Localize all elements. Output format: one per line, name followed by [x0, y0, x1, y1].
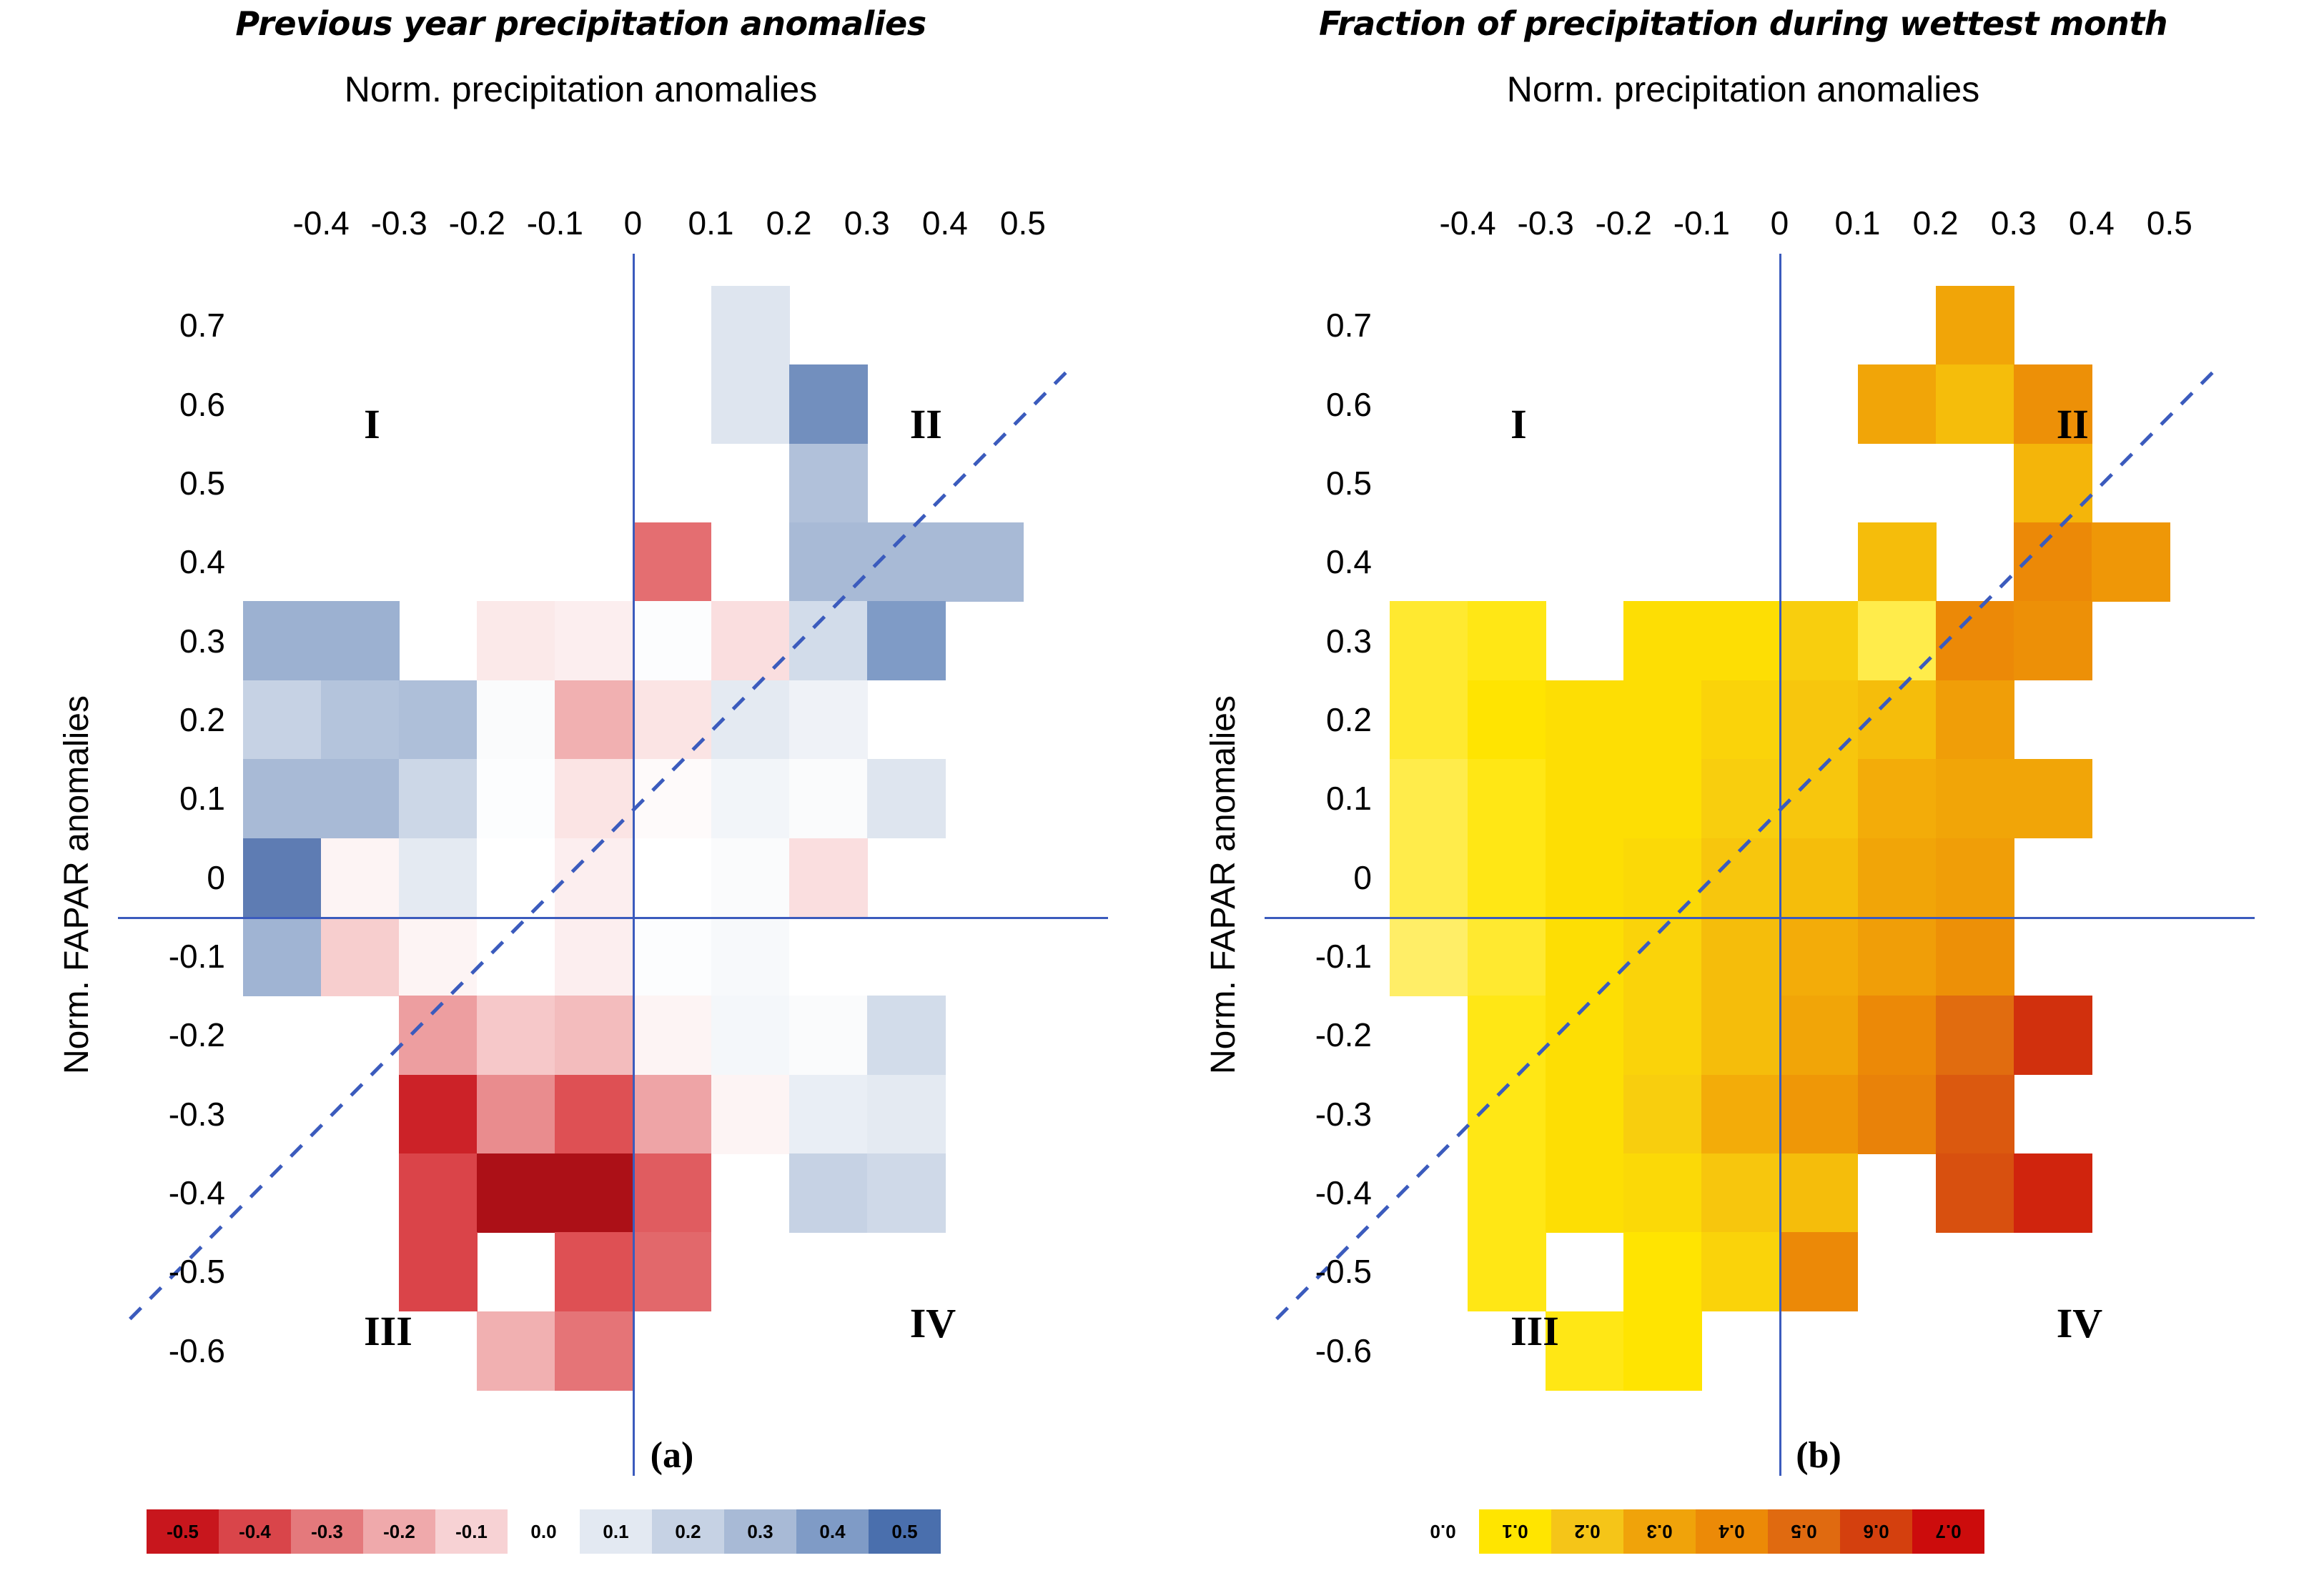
colorbar-tick: 0.5 [869, 1509, 941, 1554]
heatmap-cell [1390, 838, 1468, 918]
heatmap-cell [867, 601, 946, 680]
heatmap-cell [711, 917, 790, 996]
heatmap-cell [2014, 444, 2092, 523]
heatmap-cell [321, 680, 400, 760]
heatmap-cell [711, 680, 790, 760]
panel-letter: (a) [243, 1434, 1101, 1477]
y-tick-label: 0.2 [104, 700, 225, 739]
heatmap-cell [399, 838, 478, 918]
heatmap-cell [399, 1153, 478, 1233]
y-tick-label: 0.1 [1250, 779, 1372, 818]
colorbar-tick: 0.7 [1912, 1509, 1984, 1554]
y-zero-axis-line [1265, 917, 2255, 919]
heatmap-cell [1779, 1075, 1858, 1154]
colorbar-tick: -0.2 [363, 1509, 435, 1554]
y-tick-label: -0.4 [1250, 1173, 1372, 1212]
heatmap-cell [711, 364, 790, 444]
y-tick-label: 0.5 [104, 464, 225, 502]
x-tick-label: -0.3 [1518, 204, 1574, 242]
x-zero-axis-line [633, 254, 635, 1476]
heatmap-cell [555, 1232, 633, 1311]
quadrant-label-ii: II [910, 400, 942, 448]
y-tick-label: 0.4 [1250, 542, 1372, 581]
heatmap-cell [555, 917, 633, 996]
heatmap-cell [1623, 1232, 1702, 1311]
heatmap-cell [711, 996, 790, 1075]
quadrant-label-iii: III [364, 1307, 412, 1355]
heatmap-cell [1858, 601, 1937, 680]
heatmap-cell [321, 838, 400, 918]
panel-a-title: Previous year precipitation anomalies [0, 4, 1162, 43]
colorbar-tick: 0.6 [1840, 1509, 1912, 1554]
heatmap-cell [1623, 838, 1702, 918]
heatmap-cell [1858, 680, 1937, 760]
heatmap-cell [633, 838, 711, 918]
heatmap-cell [1468, 680, 1546, 760]
heatmap-cell [1858, 759, 1937, 838]
heatmap-cell [2014, 1153, 2092, 1233]
y-tick-label: -0.4 [104, 1173, 225, 1212]
y-tick-label: -0.2 [1250, 1016, 1372, 1054]
colorbar-tick: 0.4 [796, 1509, 869, 1554]
x-tick-label: -0.2 [1596, 204, 1652, 242]
heatmap-cell [789, 996, 868, 1075]
heatmap-cell [477, 996, 555, 1075]
heatmap-cell [711, 838, 790, 918]
quadrant-label-i: I [1510, 400, 1527, 448]
x-tick-label: -0.4 [1439, 204, 1495, 242]
y-tick-label: -0.1 [1250, 937, 1372, 976]
y-zero-axis-line [118, 917, 1108, 919]
heatmap-cell [1701, 680, 1780, 760]
panel-b: Fraction of precipitation during wettest… [1162, 0, 2324, 1578]
heatmap-cell [321, 759, 400, 838]
colorbar-tick: 0.0 [508, 1509, 580, 1554]
heatmap-cell [477, 1153, 555, 1233]
heatmap-cell [555, 996, 633, 1075]
heatmap-cell [555, 1075, 633, 1154]
y-axis-label: Norm. FAPAR anomalies [57, 695, 97, 1074]
heatmap-cell [2014, 601, 2092, 680]
heatmap-cell [1623, 680, 1702, 760]
quadrant-label-iv: IV [2057, 1299, 2102, 1347]
heatmap-cell [1546, 838, 1624, 918]
heatmap-cell [243, 759, 322, 838]
y-tick-label: 0.6 [1250, 385, 1372, 424]
colorbar-tick: -0.5 [147, 1509, 219, 1554]
heatmap-cell [477, 1075, 555, 1154]
heatmap-cell [1701, 1232, 1780, 1311]
heatmap-cell [1546, 1153, 1624, 1233]
x-tick-label: 0 [624, 204, 643, 242]
colorbar-panel-a: -0.5-0.4-0.3-0.2-0.10.00.10.20.30.40.5 [147, 1509, 941, 1554]
heatmap-cell [2014, 522, 2092, 602]
heatmap-cell [1936, 838, 2014, 918]
heatmap-cell [1779, 759, 1858, 838]
heatmap-cell [867, 522, 946, 602]
heatmap-cell [1468, 996, 1546, 1075]
panel-b-heatmap: -0.4-0.3-0.2-0.100.10.20.30.40.50.70.60.… [1390, 286, 2248, 1390]
x-tick-label: 0.2 [766, 204, 812, 242]
heatmap-cell [1468, 838, 1546, 918]
y-tick-label: 0.4 [104, 542, 225, 581]
y-tick-label: 0.7 [1250, 306, 1372, 344]
heatmap-cell [399, 1232, 478, 1311]
heatmap-cell [633, 522, 711, 602]
x-tick-label: 0.4 [2069, 204, 2115, 242]
heatmap-cell [321, 601, 400, 680]
heatmap-cell [1546, 680, 1624, 760]
heatmap-cell [1779, 1153, 1858, 1233]
y-tick-label: 0.3 [104, 622, 225, 660]
heatmap-cell [711, 759, 790, 838]
heatmap-grid [243, 286, 1101, 1390]
heatmap-cell [399, 680, 478, 760]
heatmap-cell [1936, 364, 2014, 444]
heatmap-cell [1623, 601, 1702, 680]
y-tick-label: 0.1 [104, 779, 225, 818]
y-tick-label: -0.5 [104, 1252, 225, 1291]
colorbar-tick: 0.3 [724, 1509, 796, 1554]
heatmap-cell [1858, 522, 1937, 602]
heatmap-cell [1858, 996, 1937, 1075]
heatmap-cell [555, 838, 633, 918]
colorbar-panel-b: 0.00.10.20.30.40.50.60.7 [1407, 1509, 1984, 1554]
colorbar-tick: 0.0 [1407, 1509, 1479, 1554]
heatmap-cell [243, 680, 322, 760]
y-tick-label: 0.2 [1250, 700, 1372, 739]
heatmap-cell [1936, 1075, 2014, 1154]
colorbar-tick: -0.3 [291, 1509, 363, 1554]
heatmap-cell [1858, 1075, 1937, 1154]
y-tick-label: -0.3 [104, 1095, 225, 1133]
heatmap-cell [867, 1075, 946, 1154]
heatmap-cell [477, 601, 555, 680]
heatmap-cell [399, 1075, 478, 1154]
heatmap-cell [633, 1075, 711, 1154]
heatmap-cell [633, 1232, 711, 1311]
heatmap-cell [789, 522, 868, 602]
y-tick-label: -0.3 [1250, 1095, 1372, 1133]
heatmap-cell [789, 1153, 868, 1233]
y-tick-label: 0.7 [104, 306, 225, 344]
colorbar-tick: 0.1 [580, 1509, 652, 1554]
heatmap-cell [789, 364, 868, 444]
y-tick-label: 0.6 [104, 385, 225, 424]
heatmap-cell [399, 996, 478, 1075]
quadrant-label-ii: II [2057, 400, 2089, 448]
heatmap-cell [2014, 759, 2092, 838]
panel-a-heatmap: -0.4-0.3-0.2-0.100.10.20.30.40.50.70.60.… [243, 286, 1101, 1390]
y-tick-label: 0.3 [1250, 622, 1372, 660]
heatmap-cell [1701, 1075, 1780, 1154]
heatmap-cell [1936, 917, 2014, 996]
heatmap-cell [399, 759, 478, 838]
colorbar-tick: 0.4 [1696, 1509, 1768, 1554]
heatmap-cell [243, 917, 322, 996]
heatmap-cell [1468, 1153, 1546, 1233]
heatmap-cell [399, 917, 478, 996]
x-tick-label: 0.5 [2147, 204, 2192, 242]
heatmap-cell [1468, 1075, 1546, 1154]
heatmap-cell [1936, 759, 2014, 838]
heatmap-cell [1468, 917, 1546, 996]
y-tick-label: -0.1 [104, 937, 225, 976]
heatmap-cell [1623, 1153, 1702, 1233]
heatmap-cell [633, 601, 711, 680]
heatmap-cell [1390, 601, 1468, 680]
heatmap-cell [1701, 838, 1780, 918]
heatmap-cell [789, 444, 868, 523]
colorbar-tick: 0.3 [1623, 1509, 1696, 1554]
heatmap-cell [1701, 996, 1780, 1075]
x-tick-label: 0.2 [1913, 204, 1959, 242]
heatmap-cell [243, 601, 322, 680]
heatmap-cell [1701, 917, 1780, 996]
heatmap-cell [1468, 759, 1546, 838]
heatmap-cell [1623, 1311, 1702, 1391]
y-tick-label: -0.2 [104, 1016, 225, 1054]
heatmap-cell [711, 1075, 790, 1154]
heatmap-cell [1936, 286, 2014, 365]
heatmap-cell [555, 1311, 633, 1391]
heatmap-cell [1701, 601, 1780, 680]
heatmap-cell [1546, 759, 1624, 838]
heatmap-cell [1468, 601, 1546, 680]
colorbar-tick: -0.4 [219, 1509, 291, 1554]
heatmap-cell [1701, 1153, 1780, 1233]
heatmap-cell [711, 601, 790, 680]
heatmap-cell [477, 680, 555, 760]
heatmap-cell [1623, 1075, 1702, 1154]
x-tick-label: -0.4 [292, 204, 349, 242]
heatmap-cell [477, 917, 555, 996]
heatmap-cell [1936, 601, 2014, 680]
heatmap-cell [1779, 1232, 1858, 1311]
quadrant-label-iv: IV [910, 1299, 956, 1347]
heatmap-cell [867, 759, 946, 838]
heatmap-cell [1779, 996, 1858, 1075]
panel-a-x-axis-label: Norm. precipitation anomalies [0, 69, 1162, 110]
x-tick-label: 0.3 [1991, 204, 2037, 242]
x-tick-label: 0.3 [844, 204, 890, 242]
colorbar-tick: 0.5 [1768, 1509, 1840, 1554]
heatmap-cell [633, 1153, 711, 1233]
heatmap-cell [867, 996, 946, 1075]
colorbar-tick: -0.1 [435, 1509, 508, 1554]
heatmap-cell [1546, 1075, 1624, 1154]
heatmap-cell [555, 1153, 633, 1233]
heatmap-cell [477, 838, 555, 918]
x-tick-label: -0.1 [1673, 204, 1730, 242]
heatmap-cell [1390, 759, 1468, 838]
heatmap-cell [2092, 522, 2170, 602]
heatmap-cell [1779, 917, 1858, 996]
heatmap-cell [321, 917, 400, 996]
x-tick-label: -0.1 [527, 204, 583, 242]
x-tick-label: -0.3 [371, 204, 427, 242]
x-tick-label: 0 [1771, 204, 1789, 242]
y-tick-label: -0.6 [1250, 1331, 1372, 1370]
heatmap-cell [1623, 759, 1702, 838]
y-tick-label: 0.5 [1250, 464, 1372, 502]
heatmap-cell [2014, 996, 2092, 1075]
heatmap-cell [477, 759, 555, 838]
heatmap-cell [555, 759, 633, 838]
panel-b-x-axis-label: Norm. precipitation anomalies [1162, 69, 2324, 110]
heatmap-cell [1468, 1232, 1546, 1311]
x-tick-label: 0.1 [1835, 204, 1881, 242]
quadrant-label-i: I [364, 400, 380, 448]
heatmap-cell [555, 601, 633, 680]
heatmap-cell [711, 286, 790, 365]
colorbar-tick: 0.2 [1551, 1509, 1623, 1554]
heatmap-cell [1546, 996, 1624, 1075]
heatmap-cell [867, 1153, 946, 1233]
heatmap-cell [789, 601, 868, 680]
heatmap-cell [1779, 680, 1858, 760]
y-tick-label: 0 [104, 858, 225, 897]
heatmap-cell [1858, 917, 1937, 996]
colorbar-tick: 0.1 [1479, 1509, 1551, 1554]
heatmap-cell [633, 680, 711, 760]
x-tick-label: 0.5 [1000, 204, 1046, 242]
heatmap-cell [1390, 680, 1468, 760]
heatmap-cell [633, 759, 711, 838]
quadrant-label-iii: III [1510, 1307, 1559, 1355]
heatmap-cell [555, 680, 633, 760]
heatmap-grid [1390, 286, 2248, 1390]
y-axis-label: Norm. FAPAR anomalies [1204, 695, 1243, 1074]
heatmap-cell [1936, 996, 2014, 1075]
panel-a: Previous year precipitation anomalies No… [0, 0, 1162, 1578]
heatmap-cell [789, 680, 868, 760]
heatmap-cell [243, 838, 322, 918]
heatmap-cell [633, 996, 711, 1075]
y-tick-label: -0.5 [1250, 1252, 1372, 1291]
heatmap-cell [1623, 917, 1702, 996]
heatmap-cell [1390, 917, 1468, 996]
heatmap-cell [1858, 364, 1937, 444]
heatmap-cell [789, 838, 868, 918]
heatmap-cell [1779, 838, 1858, 918]
heatmap-cell [945, 522, 1024, 602]
panel-b-title: Fraction of precipitation during wettest… [1162, 4, 2324, 43]
x-zero-axis-line [1779, 254, 1781, 1476]
heatmap-cell [1936, 680, 2014, 760]
heatmap-cell [789, 917, 868, 996]
heatmap-cell [1623, 996, 1702, 1075]
heatmap-cell [633, 917, 711, 996]
panel-letter: (b) [1390, 1434, 2248, 1477]
heatmap-cell [789, 1075, 868, 1154]
heatmap-cell [1546, 917, 1624, 996]
heatmap-cell [1936, 1153, 2014, 1233]
colorbar-tick: 0.2 [652, 1509, 724, 1554]
x-tick-label: 0.4 [922, 204, 968, 242]
heatmap-cell [1701, 759, 1780, 838]
heatmap-cell [1858, 838, 1937, 918]
x-tick-label: -0.2 [449, 204, 505, 242]
y-tick-label: -0.6 [104, 1331, 225, 1370]
heatmap-cell [477, 1311, 555, 1391]
y-tick-label: 0 [1250, 858, 1372, 897]
heatmap-cell [1779, 601, 1858, 680]
heatmap-cell [789, 759, 868, 838]
x-tick-label: 0.1 [688, 204, 734, 242]
